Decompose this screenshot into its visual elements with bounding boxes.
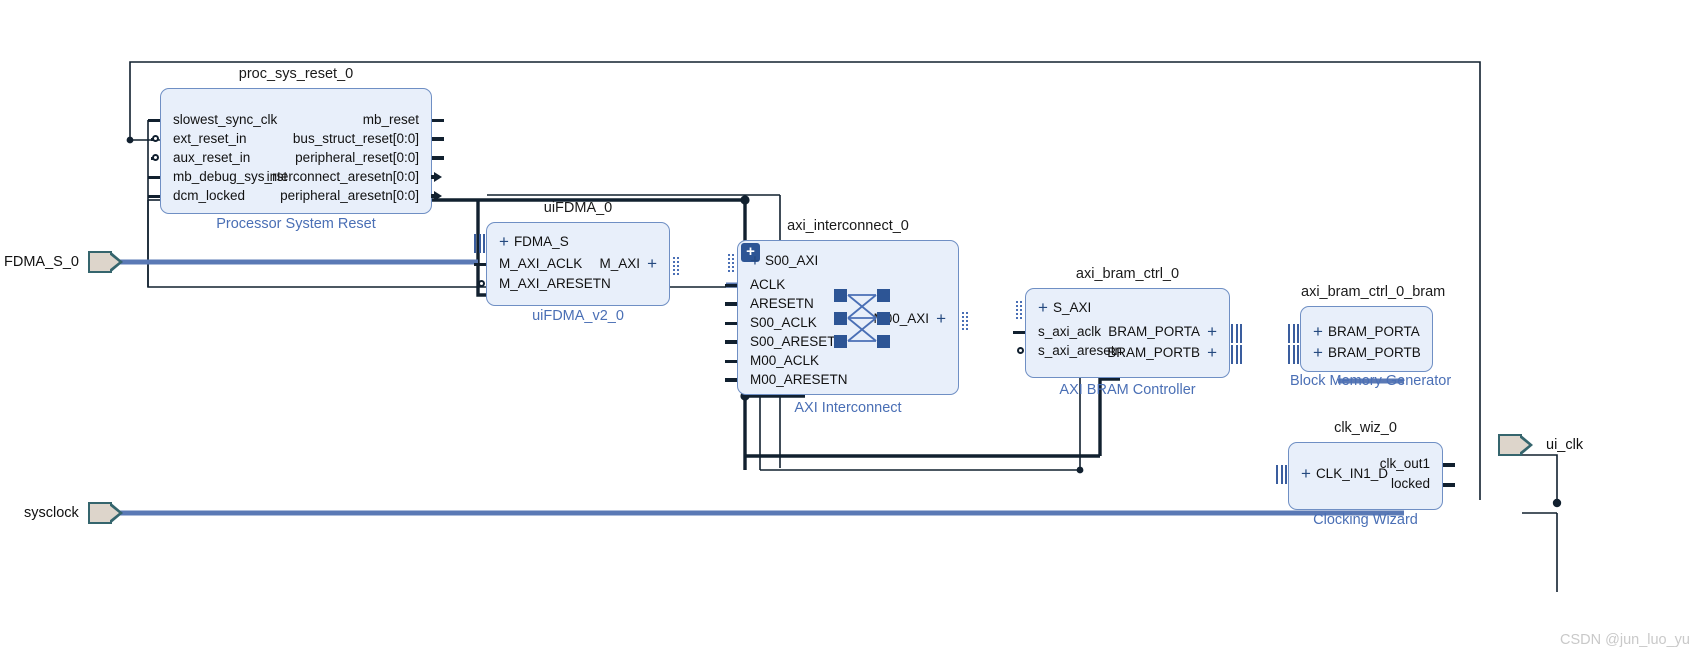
plus-icon-fdma-s: + xyxy=(499,232,509,251)
pin-s00-axi[interactable]: +S00_AXI xyxy=(750,254,818,268)
block-axi-interconnect-0[interactable]: axi_interconnect_0 + +S00_AXI ACLK ARESE… xyxy=(737,240,959,395)
pin-stub-slowest-sync-clk xyxy=(148,119,160,122)
external-port-ui-clk-label: ui_clk xyxy=(1546,437,1583,453)
pin-bubble-ext-reset-in xyxy=(152,135,159,142)
pin-ext-reset-in[interactable]: ext_reset_in xyxy=(173,132,247,146)
external-port-fdma-s-0[interactable] xyxy=(88,251,112,273)
block-proc-sys-reset-0[interactable]: proc_sys_reset_0 slowest_sync_clk ext_re… xyxy=(160,88,432,214)
external-port-ui-clk[interactable] xyxy=(1498,434,1522,456)
pin-bram-portb-in[interactable]: +BRAM_PORTB xyxy=(1313,346,1421,360)
pin-m-axi-aresetn[interactable]: M_AXI_ARESETN xyxy=(499,277,611,291)
plus-icon-bram-portb-out: + xyxy=(1207,343,1217,362)
pin-marker-peripheral-aresetn xyxy=(434,191,442,201)
interface-socket-m00-axi xyxy=(961,311,969,331)
interface-socket-m-axi xyxy=(672,256,680,276)
pin-fdma-s[interactable]: +FDMA_S xyxy=(499,235,569,249)
pin-stub-mb-reset xyxy=(432,119,444,122)
block-axi-bram-ctrl-0-bram[interactable]: axi_bram_ctrl_0_bram +BRAM_PORTA +BRAM_P… xyxy=(1300,306,1433,372)
external-port-sysclock[interactable] xyxy=(88,502,112,524)
block-uifdma-0[interactable]: uiFDMA_0 +FDMA_S M_AXI_ACLK M_AXI_ARESET… xyxy=(486,222,670,306)
pin-s-axi-aclk[interactable]: s_axi_aclk xyxy=(1038,325,1101,339)
block-axi-bram-ctrl-0-title: axi_bram_ctrl_0 xyxy=(1026,266,1229,282)
pin-bus-struct-reset[interactable]: bus_struct_reset[0:0] xyxy=(293,132,419,146)
pin-stub-s-axi-aclk xyxy=(1013,331,1025,334)
pin-bram-portb-out[interactable]: BRAM_PORTB+ xyxy=(1107,346,1217,360)
block-axi-interconnect-0-subtitle: AXI Interconnect xyxy=(737,400,959,416)
pin-stub-m00-aclk xyxy=(725,360,737,363)
plus-icon-clk-in1-d: + xyxy=(1301,464,1311,483)
pin-stub-clk-out1 xyxy=(1443,463,1455,467)
external-port-fdma-s-0-label: FDMA_S_0 xyxy=(4,254,79,270)
pin-s00-aresetn[interactable]: S00_ARESETN xyxy=(750,335,845,349)
pin-stub-locked xyxy=(1443,483,1455,487)
pin-m00-aresetn[interactable]: M00_ARESETN xyxy=(750,373,848,387)
plus-icon-bram-porta-out: + xyxy=(1207,322,1217,341)
pin-peripheral-reset[interactable]: peripheral_reset[0:0] xyxy=(295,151,419,165)
plus-icon-m00-axi: + xyxy=(936,309,946,328)
pin-marker-interconnect-aresetn xyxy=(434,172,442,182)
pin-clk-in1-d[interactable]: +CLK_IN1_D xyxy=(1301,467,1388,481)
pin-clk-out1[interactable]: clk_out1 xyxy=(1380,457,1430,471)
block-design-canvas[interactable]: FDMA_S_0 sysclock ui_clk proc_sys_reset_… xyxy=(0,0,1702,662)
pin-m-axi-aclk[interactable]: M_AXI_ACLK xyxy=(499,257,582,271)
plus-icon-m-axi: + xyxy=(647,254,657,273)
pin-stub-aresetn xyxy=(725,302,737,306)
crossbar-switch-icon xyxy=(834,289,890,349)
pin-aux-reset-in[interactable]: aux_reset_in xyxy=(173,151,250,165)
pin-bram-porta-out[interactable]: BRAM_PORTA+ xyxy=(1108,325,1217,339)
pin-aclk[interactable]: ACLK xyxy=(750,278,785,292)
pin-stub-s00-aclk xyxy=(725,322,737,325)
pin-stub-aclk xyxy=(725,284,737,287)
block-clk-wiz-0[interactable]: clk_wiz_0 +CLK_IN1_D clk_out1 locked xyxy=(1288,442,1443,510)
interface-bars-bram-porta-in xyxy=(1288,324,1299,343)
block-clk-wiz-0-title: clk_wiz_0 xyxy=(1289,420,1442,436)
pin-aresetn[interactable]: ARESETN xyxy=(750,297,814,311)
interface-bars-bram-portb-out xyxy=(1231,345,1242,364)
block-axi-bram-ctrl-0-bram-subtitle: Block Memory Generator xyxy=(1290,373,1445,389)
external-port-sysclock-label: sysclock xyxy=(24,505,79,521)
block-proc-sys-reset-0-subtitle: Processor System Reset xyxy=(160,216,432,232)
pin-s-axi[interactable]: +S_AXI xyxy=(1038,301,1091,315)
pin-bubble-aux-reset-in xyxy=(152,154,159,161)
pin-stub-s00-aresetn xyxy=(725,340,737,344)
pin-slowest-sync-clk[interactable]: slowest_sync_clk xyxy=(173,113,277,127)
interface-bars-fdma-s xyxy=(474,234,485,253)
pin-locked[interactable]: locked xyxy=(1391,477,1430,491)
pin-mb-reset[interactable]: mb_reset xyxy=(363,113,419,127)
plus-icon-bram-portb-in: + xyxy=(1313,343,1323,362)
pin-m00-aclk[interactable]: M00_ACLK xyxy=(750,354,819,368)
pin-dcm-locked[interactable]: dcm_locked xyxy=(173,189,245,203)
block-uifdma-0-subtitle: uiFDMA_v2_0 xyxy=(486,308,670,324)
interface-bars-bram-portb-in xyxy=(1288,345,1299,364)
block-proc-sys-reset-0-title: proc_sys_reset_0 xyxy=(161,66,431,82)
block-axi-bram-ctrl-0-bram-title: axi_bram_ctrl_0_bram xyxy=(1301,284,1432,300)
block-axi-interconnect-0-title: axi_interconnect_0 xyxy=(738,218,958,234)
plus-icon-s00-axi: + xyxy=(750,251,760,270)
interface-bars-clk-in1-d xyxy=(1276,465,1287,484)
pin-bubble-m-axi-aresetn xyxy=(478,280,485,287)
pin-stub-dcm-locked xyxy=(148,195,160,198)
pin-bram-porta-in[interactable]: +BRAM_PORTA xyxy=(1313,325,1420,339)
block-axi-bram-ctrl-0[interactable]: axi_bram_ctrl_0 +S_AXI s_axi_aclk s_axi_… xyxy=(1025,288,1230,378)
pin-stub-bus-struct-reset xyxy=(432,137,444,141)
pin-s00-aclk[interactable]: S00_ACLK xyxy=(750,316,817,330)
plus-icon-bram-porta-in: + xyxy=(1313,322,1323,341)
block-clk-wiz-0-subtitle: Clocking Wizard xyxy=(1288,512,1443,528)
interface-socket-s00-axi xyxy=(727,253,735,273)
watermark: CSDN @jun_luo_yu xyxy=(1560,632,1690,648)
pin-stub-m-axi-aclk xyxy=(474,263,486,266)
block-axi-bram-ctrl-0-subtitle: AXI BRAM Controller xyxy=(1025,382,1230,398)
block-uifdma-0-title: uiFDMA_0 xyxy=(487,200,669,216)
plus-icon-s-axi: + xyxy=(1038,298,1048,317)
pin-stub-peripheral-reset xyxy=(432,156,444,160)
pin-bubble-s-axi-aresetn xyxy=(1017,347,1024,354)
pin-stub-mb-debug-sys-rst xyxy=(148,176,160,179)
pin-stub-m00-aresetn xyxy=(725,378,737,382)
pin-peripheral-aresetn[interactable]: peripheral_aresetn[0:0] xyxy=(280,189,419,203)
pin-interconnect-aresetn[interactable]: interconnect_aresetn[0:0] xyxy=(267,170,419,184)
interface-bars-bram-porta-out xyxy=(1231,324,1242,343)
interface-socket-s-axi xyxy=(1015,300,1023,320)
pin-m-axi[interactable]: M_AXI+ xyxy=(600,257,657,271)
